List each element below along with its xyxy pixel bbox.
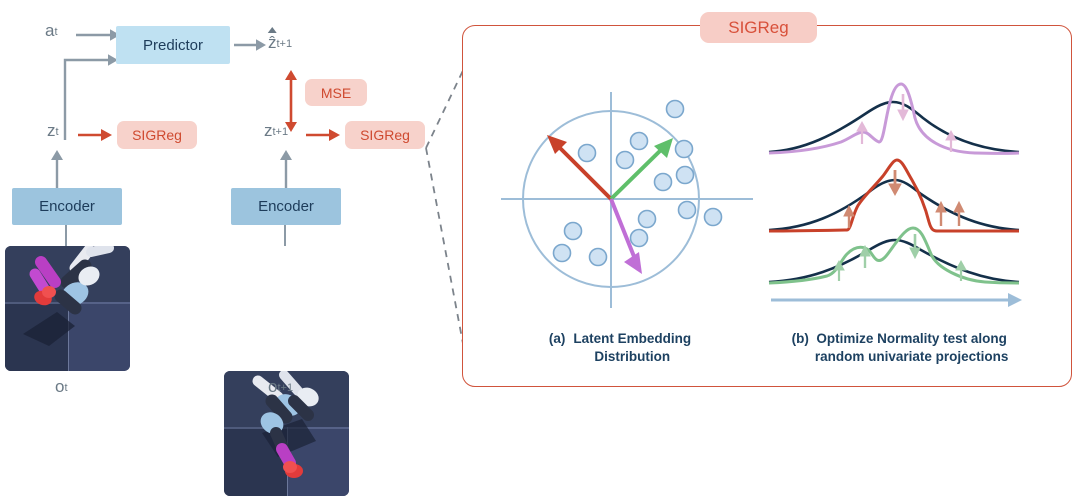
mse-label: MSE: [321, 85, 351, 101]
predictor-box[interactable]: Predictor: [116, 26, 230, 64]
latent-t-label: zt: [47, 122, 59, 139]
encoder-box-left[interactable]: Encoder: [12, 188, 122, 225]
predicted-latent-label: ẑt+1: [268, 34, 292, 51]
latent-t1-label: zt+1: [264, 122, 288, 139]
sigreg-label-right: SIGReg: [360, 127, 410, 143]
red-projection-arrow: [547, 135, 611, 199]
latent-embedding-scatter: [487, 80, 767, 318]
gaussian-reference-purple: [769, 102, 1019, 152]
encoder-label-right: Encoder: [258, 198, 314, 215]
observation-image-t: [5, 246, 130, 371]
obs-t-label: ot: [55, 378, 68, 395]
sigreg-badge-left[interactable]: SIGReg: [117, 121, 197, 149]
sigreg-panel-title: SIGReg: [728, 18, 788, 38]
robot-arm-t: [5, 246, 130, 371]
caption-a: (a) Latent Embedding Distribution: [495, 330, 745, 366]
action-label: at: [45, 22, 58, 39]
empirical-curve-purple: [769, 84, 1019, 153]
obs-t1-label: ot+1: [268, 378, 293, 395]
caption-a-text: Latent Embedding Distribution: [573, 330, 691, 366]
encoder-box-right[interactable]: Encoder: [231, 188, 341, 225]
caption-b-index: (b): [792, 330, 809, 366]
obs-right-connector: [284, 225, 286, 246]
sigreg-badge-right[interactable]: SIGReg: [345, 121, 425, 149]
sigreg-label-left: SIGReg: [132, 127, 182, 143]
projection-distributions: [765, 82, 1027, 312]
caption-b-text: Optimize Normality test along random uni…: [815, 330, 1009, 366]
projection-axis-arrow: [771, 293, 1022, 307]
encoder-label-left: Encoder: [39, 198, 95, 215]
predictor-output-arrow: [234, 36, 268, 54]
sigreg-panel-title-badge: SIGReg: [700, 12, 817, 43]
caption-b: (b) Optimize Normality test along random…: [760, 330, 1040, 366]
obs-left-connector: [65, 225, 67, 246]
scatter-dots: [554, 101, 722, 266]
latent-t1-arrow: [306, 126, 342, 144]
latent-t-arrow: [78, 126, 114, 144]
purple-projection-distribution: [769, 84, 1019, 153]
red-projection-distribution: [769, 160, 1019, 231]
figure-root: at Predictor ẑt+1 MSE zt SIGReg: [0, 0, 1080, 406]
purple-adjust-arrows: [857, 94, 956, 152]
green-projection-distribution: [769, 228, 1019, 283]
mse-badge[interactable]: MSE: [305, 79, 367, 106]
caption-a-index: (a): [549, 330, 566, 366]
predictor-label: Predictor: [143, 37, 203, 54]
